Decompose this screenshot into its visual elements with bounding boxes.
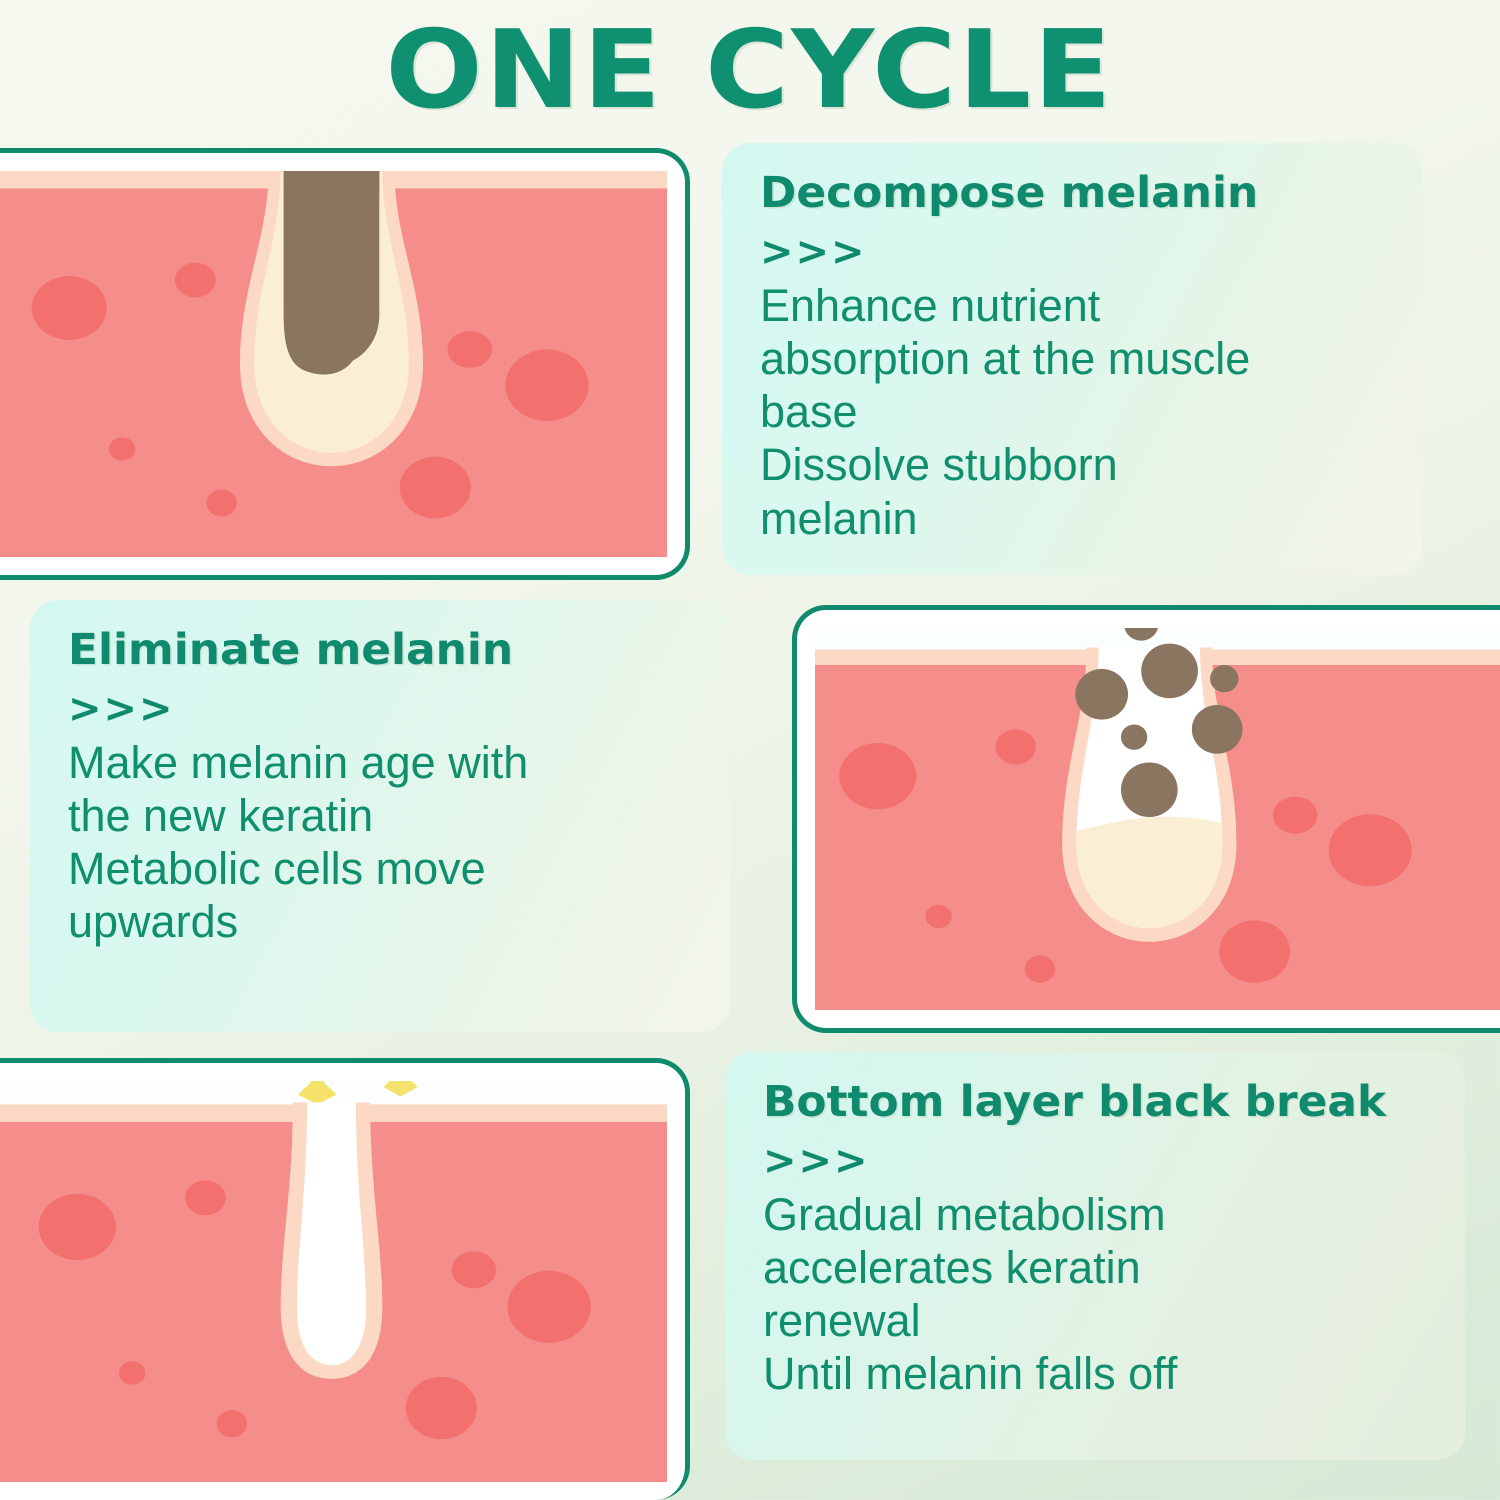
body-line: Metabolic cells move: [68, 842, 700, 895]
chevron-divider-icon-2: >>>: [68, 684, 700, 734]
skin-cross-section-clean-pore-icon: [0, 1081, 667, 1482]
step-body-eliminate-melanin: Make melanin age with the new keratin Me…: [68, 736, 700, 948]
illustration-card-blackhead-plug: [0, 148, 690, 580]
body-line: Gradual metabolism: [763, 1188, 1435, 1241]
step-heading-eliminate-melanin: Eliminate melanin: [68, 626, 713, 674]
illustration-inner-1: [0, 171, 667, 557]
chevron-divider-icon-1: >>>: [760, 227, 1392, 277]
step-panel-decompose-melanin: Decompose melanin >>> Enhance nutrient a…: [722, 143, 1422, 575]
step-panel-bottom-layer-black-break: Bottom layer black break >>> Gradual met…: [725, 1052, 1465, 1460]
step-heading-bottom-layer-black-break: Bottom layer black break: [763, 1078, 1448, 1126]
chevron-divider-icon-3: >>>: [763, 1136, 1435, 1186]
body-line: Make melanin age with: [68, 736, 700, 789]
illustration-inner-3: [0, 1081, 667, 1482]
illustration-inner-2: [815, 628, 1500, 1010]
skin-cross-section-blackhead-icon: [0, 171, 667, 557]
body-line: renewal: [763, 1294, 1435, 1347]
body-line: Dissolve stubborn: [760, 438, 1392, 491]
body-line: upwards: [68, 895, 700, 948]
step-heading-decompose-melanin: Decompose melanin: [760, 169, 1405, 217]
page-title-bar: ONE CYCLE: [0, 8, 1500, 133]
step-panel-eliminate-melanin: Eliminate melanin >>> Make melanin age w…: [30, 600, 730, 1032]
body-line: the new keratin: [68, 789, 700, 842]
body-line: Enhance nutrient: [760, 279, 1392, 332]
skin-cross-section-melanin-dispersing-icon: [815, 628, 1500, 1010]
page-title: ONE CYCLE: [386, 17, 1114, 125]
illustration-card-clean-pore: [0, 1058, 690, 1500]
body-line: melanin: [760, 492, 1392, 545]
illustration-card-melanin-dispersing: [792, 605, 1500, 1033]
body-line: Until melanin falls off: [763, 1347, 1435, 1400]
body-line: accelerates keratin: [763, 1241, 1435, 1294]
body-line: base: [760, 385, 1392, 438]
step-body-decompose-melanin: Enhance nutrient absorption at the muscl…: [760, 279, 1392, 544]
step-body-bottom-layer-black-break: Gradual metabolism accelerates keratin r…: [763, 1188, 1435, 1400]
body-line: absorption at the muscle: [760, 332, 1392, 385]
